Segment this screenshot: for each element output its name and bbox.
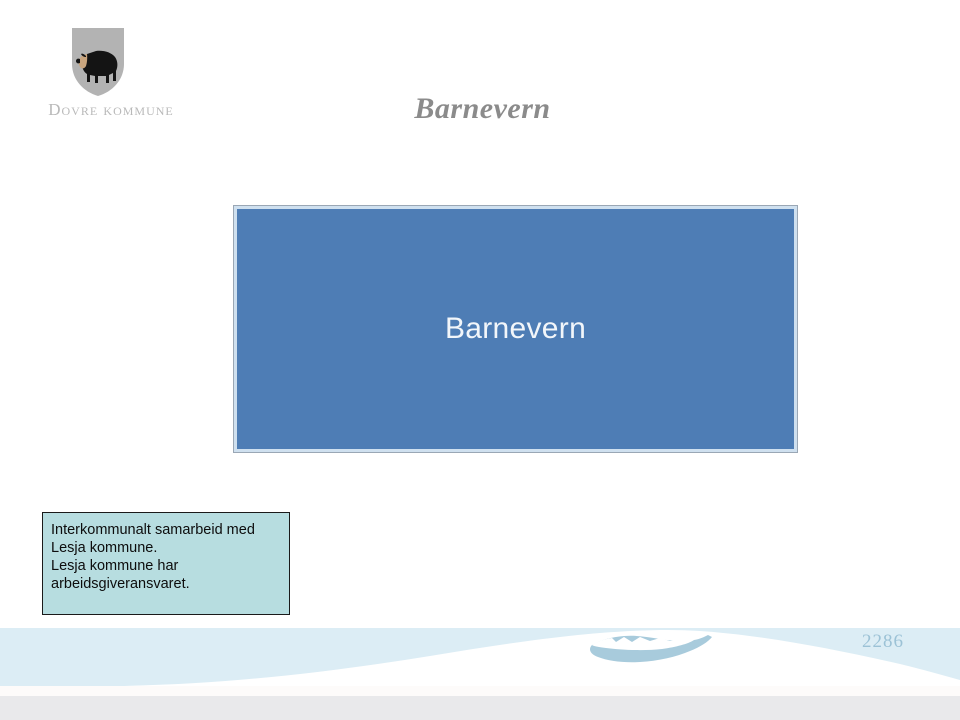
logo-block: Dovre kommune (26, 26, 196, 131)
info-text-box[interactable]: Interkommunalt samarbeid med Lesja kommu… (42, 512, 290, 615)
page-title: Barnevern (230, 92, 735, 126)
info-line: Interkommunalt samarbeid med (51, 521, 283, 539)
content-box[interactable]: Barnevern (233, 205, 798, 453)
elevation-label: 2286 (862, 631, 904, 653)
info-line: Lesja kommune. (51, 539, 283, 557)
footer-strip (0, 696, 960, 720)
content-box-label: Barnevern (445, 312, 586, 346)
logo-caption: Dovre kommune (26, 100, 196, 120)
info-line: arbeidsgiveransvaret. (51, 575, 283, 593)
footer-band (0, 628, 960, 686)
footer-gap (0, 686, 960, 696)
slide-canvas: Dovre kommune Barnevern Barnevern Interk… (0, 0, 960, 720)
musk-ox-shield-icon (70, 26, 126, 98)
mountain-silhouette-icon (0, 628, 960, 686)
info-line: Lesja kommune har (51, 557, 283, 575)
